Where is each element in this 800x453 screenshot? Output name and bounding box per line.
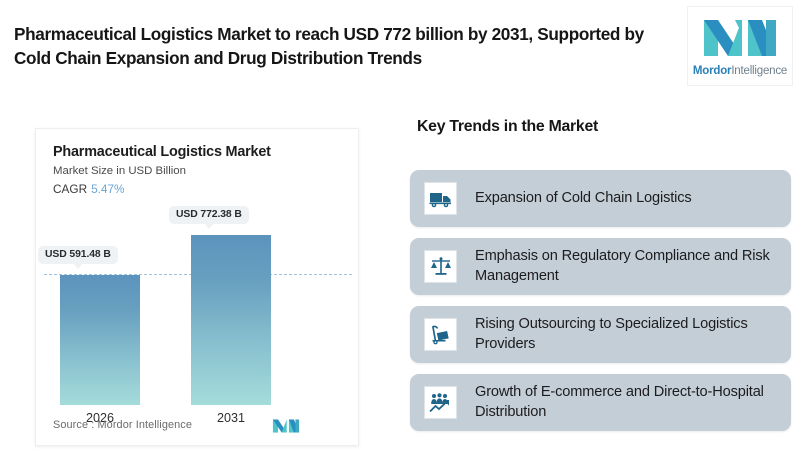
trend-label: Emphasis on Regulatory Compliance and Ri… bbox=[475, 247, 779, 286]
cagr-label: CAGR bbox=[53, 182, 87, 196]
brand-word-primary: Mordor bbox=[693, 65, 731, 77]
trend-card-cold-chain[interactable]: Expansion of Cold Chain Logistics bbox=[410, 170, 791, 227]
header: Pharmaceutical Logistics Market to reach… bbox=[0, 0, 800, 100]
trend-card-regulatory-compliance[interactable]: Emphasis on Regulatory Compliance and Ri… bbox=[410, 238, 791, 295]
page-title: Pharmaceutical Logistics Market to reach… bbox=[14, 22, 664, 71]
balance-scales-icon bbox=[424, 250, 457, 283]
trends-heading: Key Trends in the Market bbox=[417, 118, 598, 136]
trend-label: Rising Outsourcing to Specialized Logist… bbox=[475, 315, 779, 354]
trends-list: Expansion of Cold Chain Logistics Emphas… bbox=[410, 170, 791, 431]
trend-label: Expansion of Cold Chain Logistics bbox=[475, 189, 698, 208]
bar-2026 bbox=[60, 275, 140, 405]
bar-value-label: USD 591.48 B bbox=[38, 246, 118, 264]
cagr-value: 5.47% bbox=[91, 182, 124, 196]
x-axis-label-2031: 2031 bbox=[191, 411, 271, 425]
brand-wordmark: MordorIntelligence bbox=[693, 65, 787, 77]
brand-word-secondary: Intelligence bbox=[731, 65, 787, 77]
hand-truck-dolly-icon bbox=[424, 318, 457, 351]
mordor-m-mark-icon bbox=[272, 418, 300, 434]
trend-card-outsourcing[interactable]: Rising Outsourcing to Specialized Logist… bbox=[410, 306, 791, 363]
chart-title: Pharmaceutical Logistics Market bbox=[53, 144, 271, 160]
mordor-m-mark-icon bbox=[702, 16, 778, 60]
bar-2031 bbox=[191, 235, 271, 405]
people-growth-chart-icon bbox=[424, 386, 457, 419]
trend-label: Growth of E-commerce and Direct-to-Hospi… bbox=[475, 383, 779, 422]
brand-logo: MordorIntelligence bbox=[687, 6, 793, 86]
trend-card-ecommerce-growth[interactable]: Growth of E-commerce and Direct-to-Hospi… bbox=[410, 374, 791, 431]
delivery-truck-icon bbox=[424, 182, 457, 215]
chart-card: Pharmaceutical Logistics Market Market S… bbox=[35, 128, 359, 446]
chart-plot-area: USD 591.48 B USD 772.38 B bbox=[36, 207, 360, 405]
chart-subtitle: Market Size in USD Billion bbox=[53, 165, 186, 177]
chart-cagr: CAGR5.47% bbox=[53, 182, 125, 196]
chart-source: Source : Mordor Intelligence bbox=[53, 419, 192, 431]
infographic-page: Pharmaceutical Logistics Market to reach… bbox=[0, 0, 800, 453]
bar-value-label: USD 772.38 B bbox=[169, 206, 249, 224]
